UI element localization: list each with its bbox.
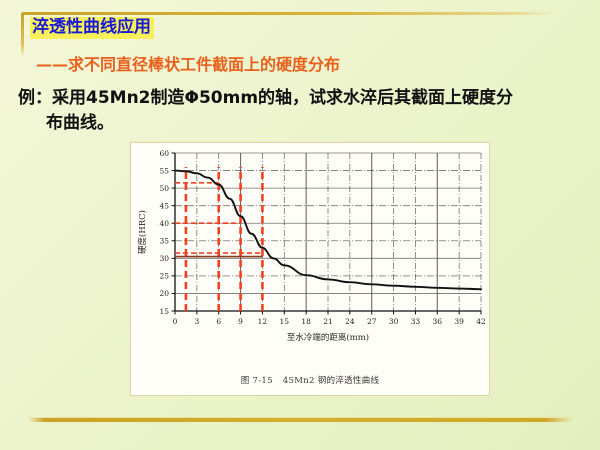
example-body-line-2: 布曲线。 [18,111,518,136]
x-axis-tick-label: 33 [411,317,421,326]
figure-caption: 图 7-1545Mn2 钢的淬透性曲线 [131,374,489,386]
x-axis-tick-label: 6 [216,317,221,326]
top-gold-rule [22,12,555,15]
chart-svg: 1520253035404550556003691215182124273033… [131,143,489,358]
x-axis-tick-label: 27 [367,317,377,326]
x-axis-tick-label: 12 [258,317,268,326]
y-axis-tick-label: 50 [159,184,169,193]
x-axis-tick-label: 18 [301,317,311,326]
y-axis-tick-label: 35 [159,237,169,246]
x-axis-tick-label: 42 [476,317,486,326]
x-axis-tick-label: 15 [280,317,290,326]
page-subtitle: ——求不同直径棒状工件截面上的硬度分布 [36,55,340,74]
page-title: 淬透性曲线应用 [30,17,154,39]
example-body-line-1: 例：采用45Mn2制造Φ50mm的轴，试求水淬后其截面上硬度分 [18,88,513,108]
y-axis-tick-label: 45 [159,201,169,210]
x-axis-title: 至水冷端的距离(mm) [287,332,369,343]
y-axis-tick-label: 20 [159,289,169,298]
y-axis-tick-label: 30 [159,254,169,263]
x-axis-tick-label: 24 [345,317,355,326]
y-axis-tick-label: 40 [159,219,169,228]
x-axis-tick-label: 30 [389,317,399,326]
x-axis-tick-label: 0 [173,317,178,326]
left-gold-rule [21,13,24,57]
example-body: 例：采用45Mn2制造Φ50mm的轴，试求水淬后其截面上硬度分 布曲线。 [18,86,518,136]
figure-caption-text: 45Mn2 钢的淬透性曲线 [283,376,380,386]
x-axis-tick-label: 3 [194,317,199,326]
x-axis-tick-label: 21 [323,317,333,326]
x-axis-tick-label: 39 [454,317,464,326]
bottom-gold-rule [28,417,573,422]
figure-caption-number: 图 7-15 [241,376,273,386]
y-axis-tick-label: 25 [159,272,169,281]
jominy-hardenability-chart: 1520253035404550556003691215182124273033… [131,143,489,358]
page-title-text: 淬透性曲线应用 [30,17,154,39]
x-axis-tick-label: 9 [238,317,243,326]
y-axis-title: 硬度(HRC) [137,210,148,254]
y-axis-tick-label: 15 [159,307,169,316]
page-subtitle-text: ——求不同直径棒状工件截面上的硬度分布 [36,55,340,74]
y-axis-tick-label: 55 [159,166,169,175]
y-axis-tick-label: 60 [159,149,169,158]
figure-panel: 1520253035404550556003691215182124273033… [130,142,490,396]
x-axis-tick-label: 36 [433,317,443,326]
